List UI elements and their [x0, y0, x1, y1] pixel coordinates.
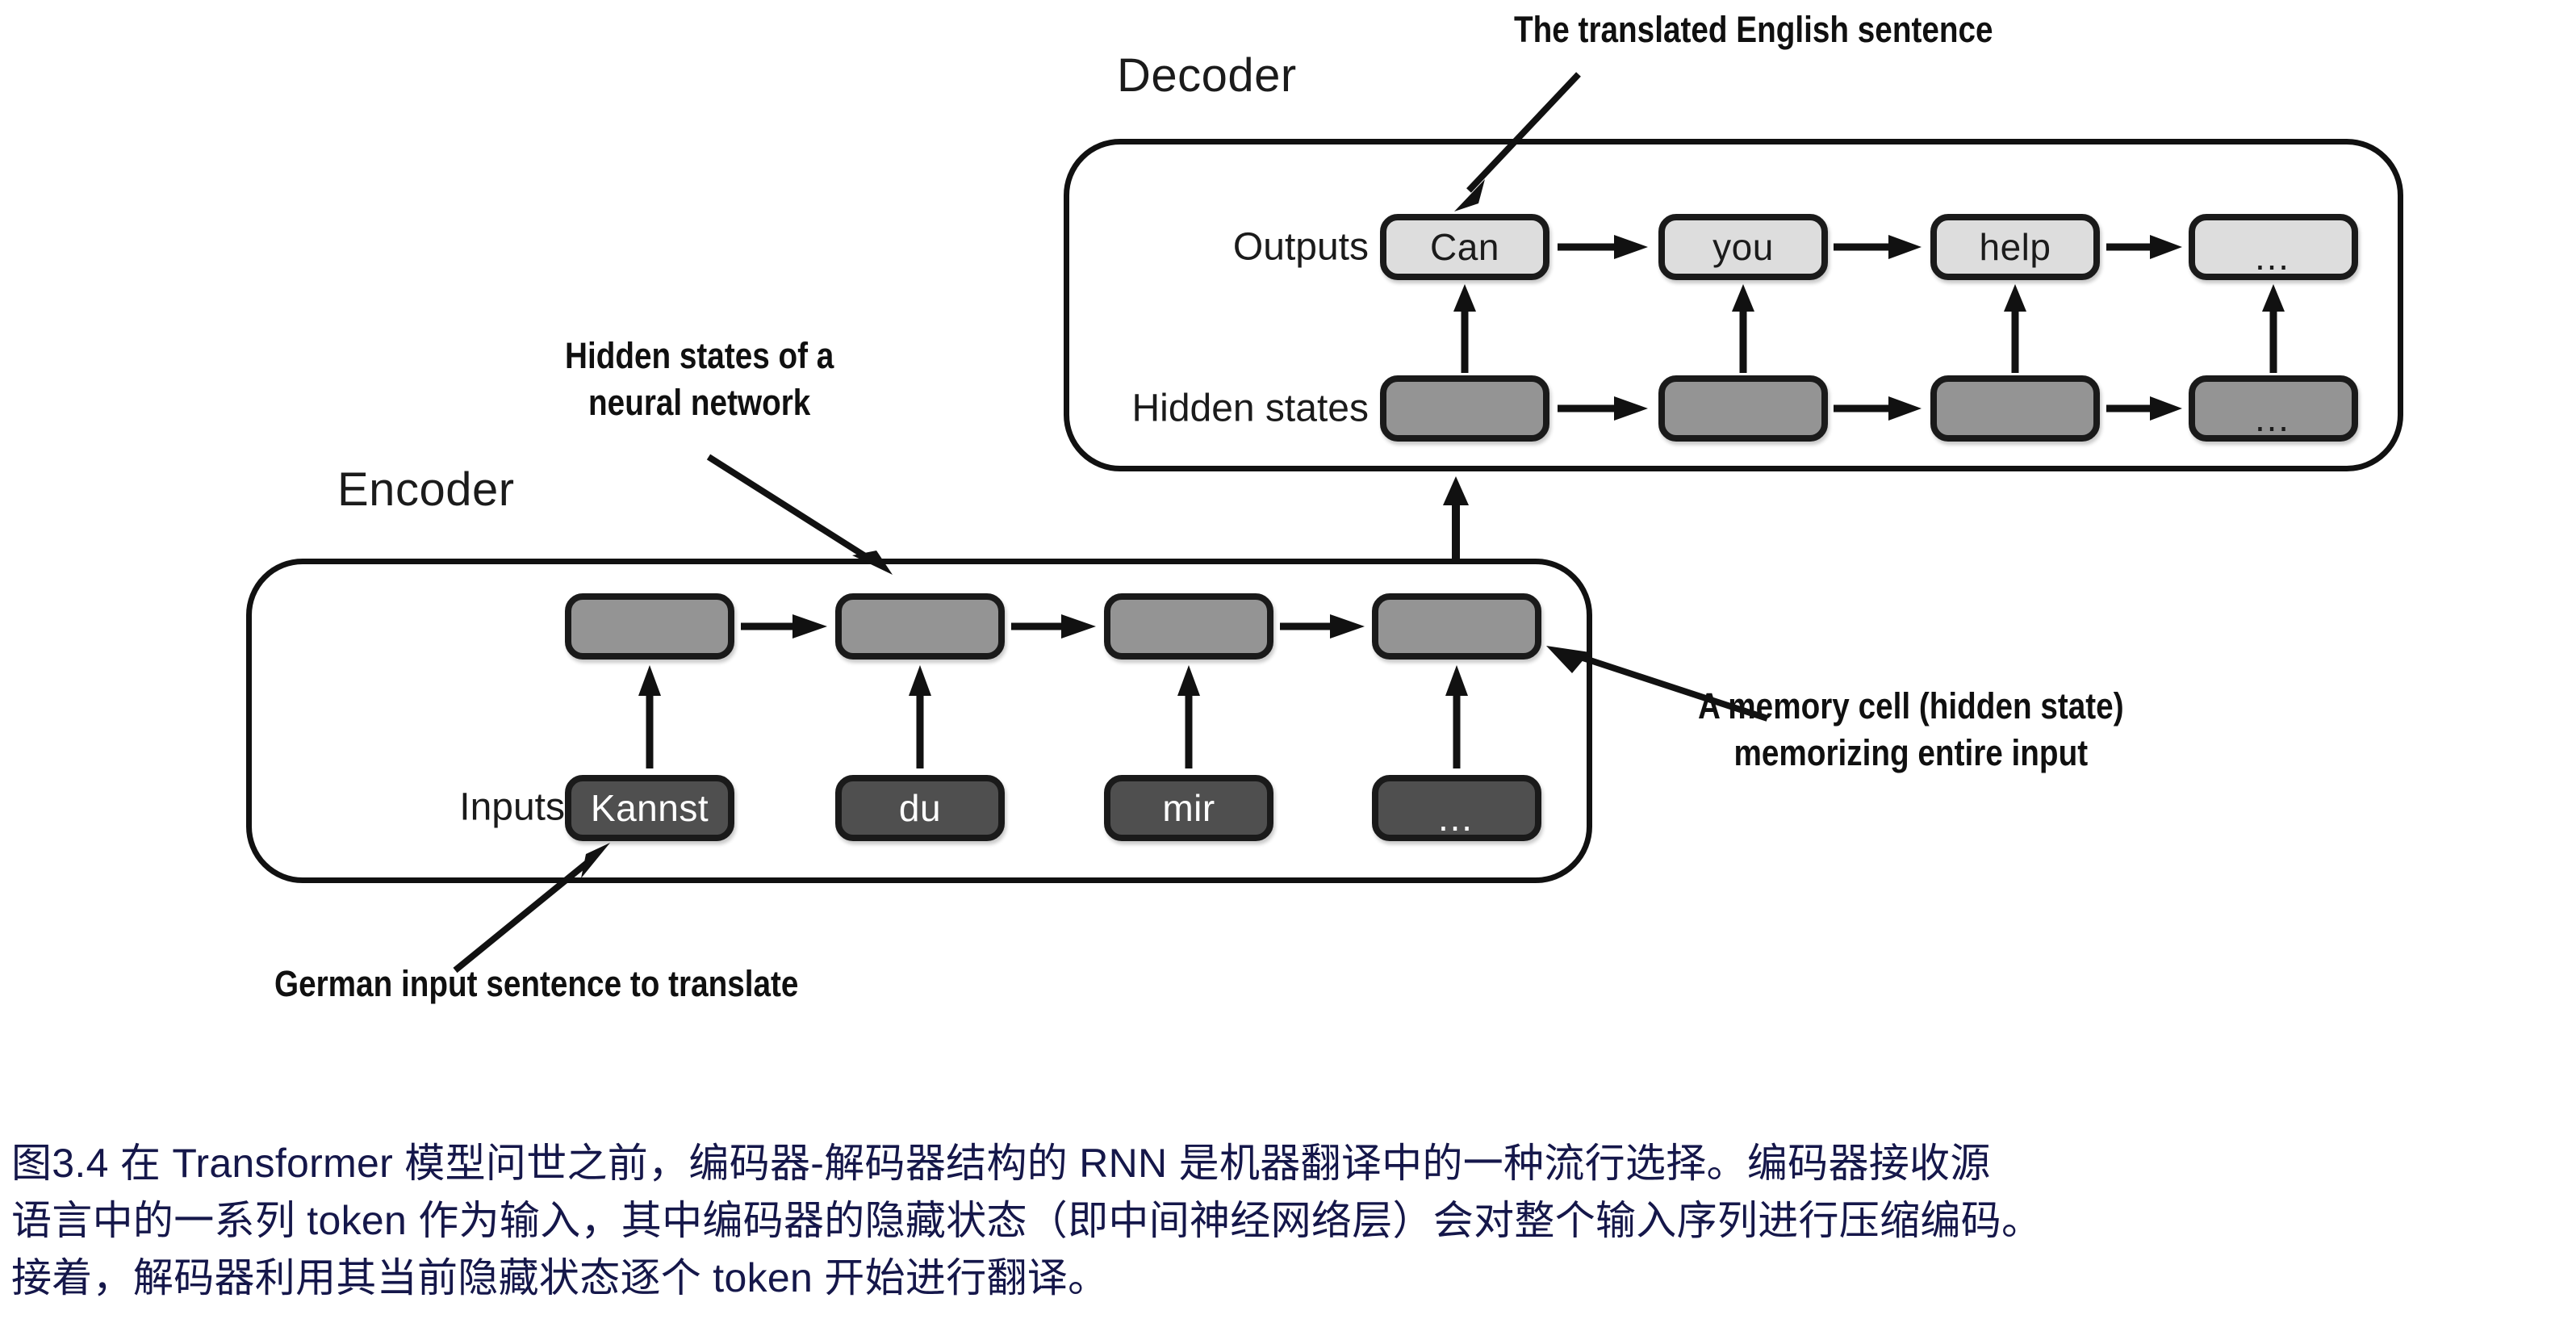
encoder-hidden-cell-0	[565, 593, 734, 660]
encoder-input-text-2: mir	[1162, 789, 1215, 827]
decoder-output-cell-0: Can	[1380, 214, 1549, 280]
decoder-vertical-arrow-2	[1999, 284, 2031, 373]
decoder-title: Decoder	[1117, 48, 1297, 103]
encoder-vertical-arrow-1	[904, 665, 936, 768]
encoder-input-cell-0: Kannst	[565, 775, 734, 841]
decoder-hidden-arrow-0	[1558, 392, 1650, 425]
decoder-output-text-1: you	[1712, 228, 1774, 266]
encoder-hidden-cell-3	[1372, 593, 1541, 660]
encoder-vertical-arrow-0	[634, 665, 666, 768]
encoder-input-text-0: Kannst	[591, 789, 709, 827]
decoder-output-text-3: …	[2253, 249, 2294, 266]
figure-canvas: Decoder Outputs Hidden states Can you he…	[0, 0, 2576, 1340]
leader-german-input	[436, 840, 621, 977]
encoder-hidden-cell-1	[835, 593, 1005, 660]
leader-memory-cell	[1532, 638, 1774, 727]
caption-line-3: 接着，解码器利用其当前隐藏状态逐个 token 开始进行翻译。	[11, 1250, 2561, 1307]
encoder-input-cell-1: du	[835, 775, 1005, 841]
decoder-hidden-arrow-2	[2106, 392, 2184, 425]
leader-hidden-states	[702, 452, 912, 581]
encoder-hidden-arrow-1	[1011, 610, 1098, 643]
encoder-vertical-arrow-3	[1441, 665, 1473, 768]
decoder-output-text-0: Can	[1430, 228, 1499, 266]
decoder-hidden-text-3: …	[2253, 410, 2294, 427]
encoder-hidden-cell-2	[1104, 593, 1273, 660]
caption-line-1: 图3.4 在 Transformer 模型问世之前，编码器-解码器结构的 RNN…	[11, 1135, 2561, 1192]
decoder-output-cell-1: you	[1658, 214, 1828, 280]
encoder-input-cell-2: mir	[1104, 775, 1273, 841]
decoder-hidden-cell-3: …	[2189, 375, 2358, 442]
decoder-vertical-arrow-3	[2257, 284, 2290, 373]
callout-hidden-states: Hidden states of a neural network	[565, 333, 834, 425]
callout-translated-sentence: The translated English sentence	[1514, 6, 1993, 53]
encoder-input-text-3: …	[1436, 810, 1477, 827]
decoder-output-cell-3: …	[2189, 214, 2358, 280]
decoder-output-arrow-1	[1834, 231, 1924, 263]
figure-caption: 图3.4 在 Transformer 模型问世之前，编码器-解码器结构的 RNN…	[11, 1135, 2561, 1307]
leader-translated-sentence	[1436, 69, 1598, 215]
decoder-output-arrow-0	[1558, 231, 1650, 263]
encoder-to-decoder-arrow	[1440, 476, 1472, 559]
decoder-hidden-cell-0	[1380, 375, 1549, 442]
encoder-hidden-arrow-2	[1280, 610, 1367, 643]
encoder-input-cell-3: …	[1372, 775, 1541, 841]
row-label-hidden-states: Hidden states	[1131, 387, 1369, 431]
decoder-vertical-arrow-1	[1727, 284, 1759, 373]
decoder-hidden-arrow-1	[1834, 392, 1924, 425]
encoder-title: Encoder	[337, 463, 515, 517]
decoder-hidden-cell-2	[1930, 375, 2100, 442]
decoder-vertical-arrow-0	[1449, 284, 1481, 373]
caption-line-2: 语言中的一系列 token 作为输入，其中编码器的隐藏状态（即中间神经网络层）会…	[11, 1192, 2561, 1250]
row-label-outputs: Outputs	[1233, 225, 1369, 270]
row-label-inputs: Inputs	[459, 785, 565, 830]
decoder-output-arrow-2	[2106, 231, 2184, 263]
decoder-output-text-2: help	[1980, 228, 2051, 266]
encoder-vertical-arrow-2	[1173, 665, 1205, 768]
encoder-input-text-1: du	[899, 789, 941, 827]
encoder-hidden-arrow-0	[741, 610, 830, 643]
decoder-hidden-cell-1	[1658, 375, 1828, 442]
decoder-output-cell-2: help	[1930, 214, 2100, 280]
